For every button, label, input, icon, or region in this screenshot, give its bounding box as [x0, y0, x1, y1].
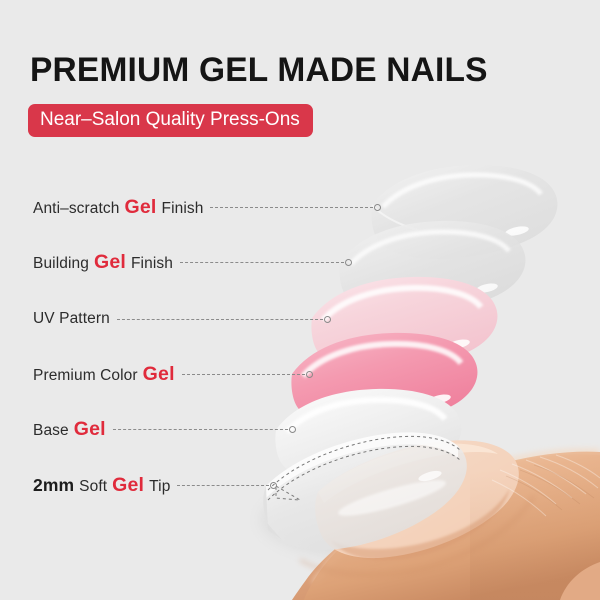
callout-segment: Gel [112, 474, 144, 497]
callout-endpoint-dot-uv-pattern [324, 316, 331, 323]
callout-segment: 2mm [33, 475, 74, 496]
callout-leader-line-anti-scratch-gel-finish [210, 207, 373, 209]
callout-segment: Gel [74, 418, 106, 441]
page-title: PREMIUM GEL MADE NAILS [30, 50, 488, 90]
nail-layer-artwork [0, 0, 600, 600]
callout-segment: Gel [125, 196, 157, 219]
product-infographic: PREMIUM GEL MADE NAILS Near–Salon Qualit… [0, 0, 600, 600]
callout-segment: Gel [94, 251, 126, 274]
callout-endpoint-dot-2mm-soft-gel-tip [270, 482, 277, 489]
callout-label-uv-pattern: UV Pattern [33, 310, 110, 328]
subtitle-badge: Near–Salon Quality Press‑Ons [28, 104, 313, 137]
callout-label-building-gel-finish: BuildingGelFinish [33, 251, 173, 274]
callout-segment: Soft [79, 478, 107, 496]
callout-segment: Premium Color [33, 367, 138, 385]
callout-segment: UV Pattern [33, 310, 110, 328]
callout-segment: Building [33, 255, 89, 273]
callout-leader-line-2mm-soft-gel-tip [177, 485, 269, 487]
fingertip [260, 440, 600, 600]
callout-leader-line-building-gel-finish [180, 262, 344, 264]
callout-leader-line-base-gel [113, 429, 288, 431]
callout-segment: Base [33, 422, 69, 440]
callout-leader-line-uv-pattern [117, 319, 323, 321]
callout-label-2mm-soft-gel-tip: 2mmSoftGelTip [33, 474, 170, 497]
layer-building-gel-finish [339, 221, 525, 315]
layer-anti-scratch-gel-finish [371, 165, 557, 259]
callout-segment: Anti–scratch [33, 200, 120, 218]
callout-label-base-gel: BaseGel [33, 418, 106, 441]
callout-endpoint-dot-anti-scratch-gel-finish [374, 204, 381, 211]
callout-endpoint-dot-building-gel-finish [345, 259, 352, 266]
layer-base-gel [275, 389, 461, 483]
callout-endpoint-dot-base-gel [289, 426, 296, 433]
callout-segment: Gel [143, 363, 175, 386]
layer-uv-pattern [311, 277, 497, 371]
callout-label-anti-scratch-gel-finish: Anti–scratchGelFinish [33, 196, 203, 219]
callout-segment: Finish [131, 255, 173, 273]
layer-premium-color-gel [291, 333, 477, 427]
callout-leader-line-premium-color-gel [182, 374, 305, 376]
callout-endpoint-dot-premium-color-gel [306, 371, 313, 378]
callout-label-premium-color-gel: Premium ColorGel [33, 363, 175, 386]
subtitle-badge-label: Near–Salon Quality Press‑Ons [40, 110, 300, 129]
callout-segment: Finish [162, 200, 204, 218]
layer-soft-gel-tip [263, 432, 467, 550]
callout-segment: Tip [149, 478, 170, 496]
